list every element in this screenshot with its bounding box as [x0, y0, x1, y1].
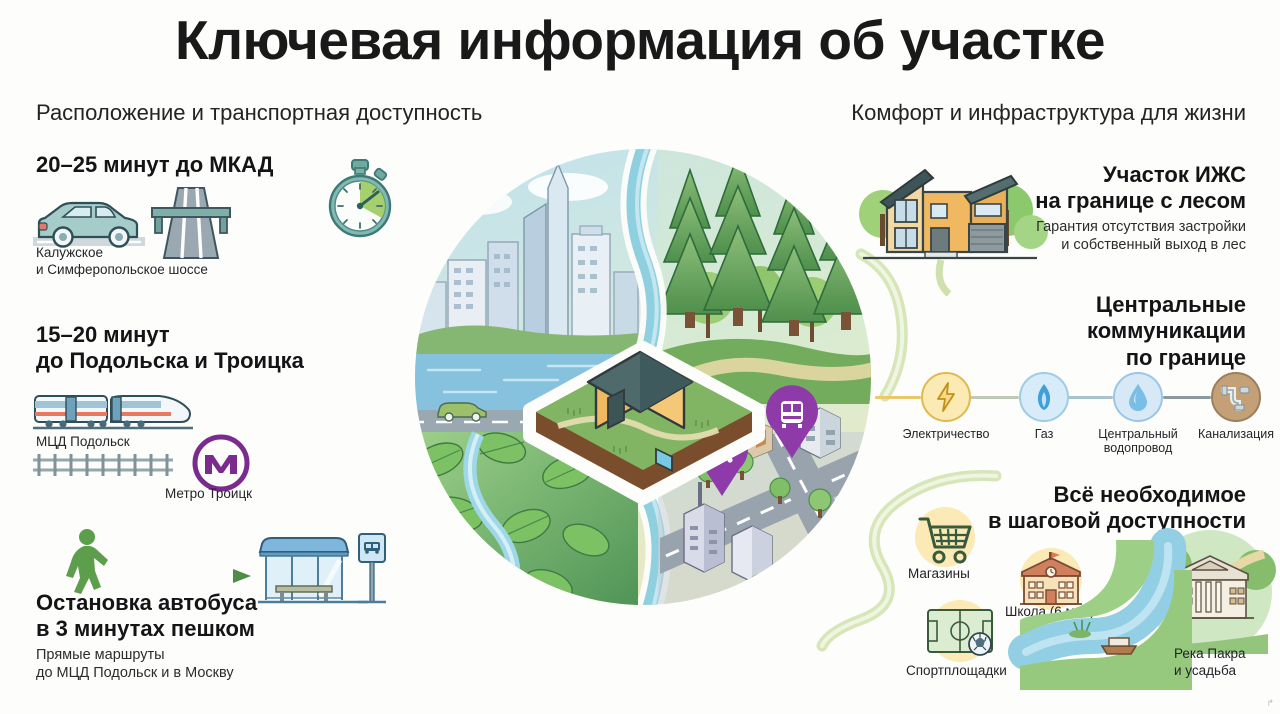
- shopping-cart-icon: [910, 505, 980, 575]
- podolsk-heading-line1: 15–20 минут: [36, 322, 304, 348]
- corner-mark: ↱: [1266, 698, 1274, 709]
- izhs-heading-line1: Участок ИЖС: [1035, 162, 1246, 188]
- utility-electricity: Электричество: [921, 372, 971, 441]
- water-drop-icon: [1113, 372, 1163, 422]
- bus-heading-line1: Остановка автобуса: [36, 590, 257, 616]
- block-utilities: Центральные коммуникации по границе: [1087, 292, 1246, 371]
- utility-water-label-line1: Центральный: [1098, 427, 1177, 441]
- izhs-caption-line2: и собственный выход в лес: [1035, 236, 1246, 255]
- railway-track-icon: [33, 452, 173, 478]
- stopwatch-icon: [325, 158, 395, 242]
- utility-sewage-label: Канализация: [1185, 427, 1280, 441]
- utilities-heading-line3: по границе: [1087, 345, 1246, 371]
- right-column-heading: Комфорт и инфраструктура для жизни: [851, 100, 1246, 126]
- izhs-heading-line2: на границе с лесом: [1035, 188, 1246, 214]
- page-title: Ключевая информация об участке: [0, 8, 1280, 72]
- utility-gas-label: Газ: [1019, 427, 1069, 441]
- pedestrian-icon: [60, 528, 112, 596]
- utility-water: Центральный водопровод: [1113, 372, 1163, 456]
- bus-stop-icon: [258, 530, 368, 608]
- amenity-river-label: Река Пакра и усадьба: [1174, 646, 1246, 680]
- bus-sign-icon: [354, 530, 388, 608]
- block-mkad: 20–25 минут до МКАД: [36, 152, 273, 178]
- utility-sewage: Канализация: [1211, 372, 1261, 441]
- bus-caption-line1: Прямые маршруты: [36, 646, 257, 665]
- podolsk-heading-line2: до Подольска и Троицка: [36, 348, 304, 374]
- utility-water-label-line2: водопровод: [1104, 441, 1173, 455]
- block-amenities: Всё необходимое в шаговой доступности: [988, 482, 1246, 535]
- utilities-row: Электричество Газ Центральный в: [905, 372, 1280, 464]
- utilities-heading-line2: коммуникации: [1087, 318, 1246, 344]
- mkad-caption: Калужское и Симферопольское шоссе: [36, 245, 208, 279]
- izhs-caption-line1: Гарантия отсутствия застройки: [1035, 218, 1246, 237]
- utility-line-3: [1163, 396, 1211, 399]
- lightning-icon: [921, 372, 971, 422]
- train-caption: МЦД Подольск: [36, 434, 130, 451]
- bus-caption-line2: до МЦД Подольск и в Москву: [36, 664, 257, 683]
- utility-gas: Газ: [1019, 372, 1069, 441]
- amenity-river-label-line2: и усадьба: [1174, 663, 1236, 678]
- metro-logo-icon: [192, 434, 250, 492]
- mkad-heading: 20–25 минут до МКАД: [36, 152, 273, 178]
- amenity-shops-label: Магазины: [908, 566, 970, 582]
- mkad-caption-line1: Калужское: [36, 245, 208, 262]
- utility-electricity-label: Электричество: [891, 427, 1001, 441]
- utility-line-2: [1067, 396, 1113, 399]
- block-izhs: Участок ИЖС на границе с лесом Гарантия …: [1035, 162, 1246, 255]
- utility-line-0: [875, 396, 921, 399]
- pipe-icon: [1211, 372, 1261, 422]
- train-icon: [33, 388, 193, 430]
- block-podolsk: 15–20 минут до Подольска и Троицка: [36, 322, 304, 375]
- sports-field-icon: [920, 600, 1000, 662]
- infographic-root: Ключевая информация об участке Расположе…: [0, 0, 1280, 714]
- flame-icon: [1019, 372, 1069, 422]
- mkad-caption-line2: и Симферопольское шоссе: [36, 262, 208, 279]
- amenity-river-label-line1: Река Пакра: [1174, 646, 1246, 661]
- bus-heading-line2: в 3 минутах пешком: [36, 616, 257, 642]
- amenity-sports-label: Спортплощадки: [906, 663, 1007, 679]
- car-icon: [33, 193, 145, 253]
- house-icon: [845, 152, 1045, 272]
- amenities-heading-line1: Всё необходимое: [988, 482, 1246, 508]
- plot-location-illustration: [408, 142, 878, 612]
- utility-line-1: [967, 396, 1019, 399]
- arrow-icon: [115, 568, 255, 584]
- metro-caption: Метро Троицк: [165, 486, 252, 503]
- block-bus: Остановка автобуса в 3 минутах пешком Пр…: [36, 590, 257, 683]
- left-column-heading: Расположение и транспортная доступность: [36, 100, 482, 126]
- utilities-heading-line1: Центральные: [1087, 292, 1246, 318]
